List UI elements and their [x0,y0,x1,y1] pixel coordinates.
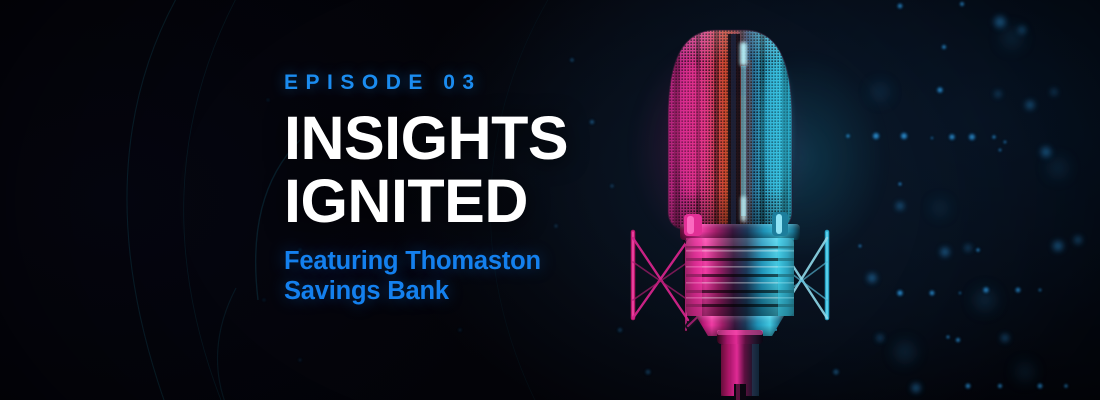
featured-guest-subtitle: Featuring Thomaston Savings Bank [284,246,684,306]
microphone-stand [717,330,763,400]
subtitle-line-2: Savings Bank [284,276,684,306]
page-title-line-2: IGNITED [284,172,684,231]
banner-text-block: EPISODE 03 INSIGHTS IGNITED Featuring Th… [284,72,684,306]
page-title-line-1: INSIGHTS [284,109,684,168]
episode-number-label: EPISODE 03 [284,72,684,93]
subtitle-line-1: Featuring Thomaston [284,246,684,276]
podcast-episode-banner: EPISODE 03 INSIGHTS IGNITED Featuring Th… [0,0,1100,400]
microphone-body [686,238,794,336]
